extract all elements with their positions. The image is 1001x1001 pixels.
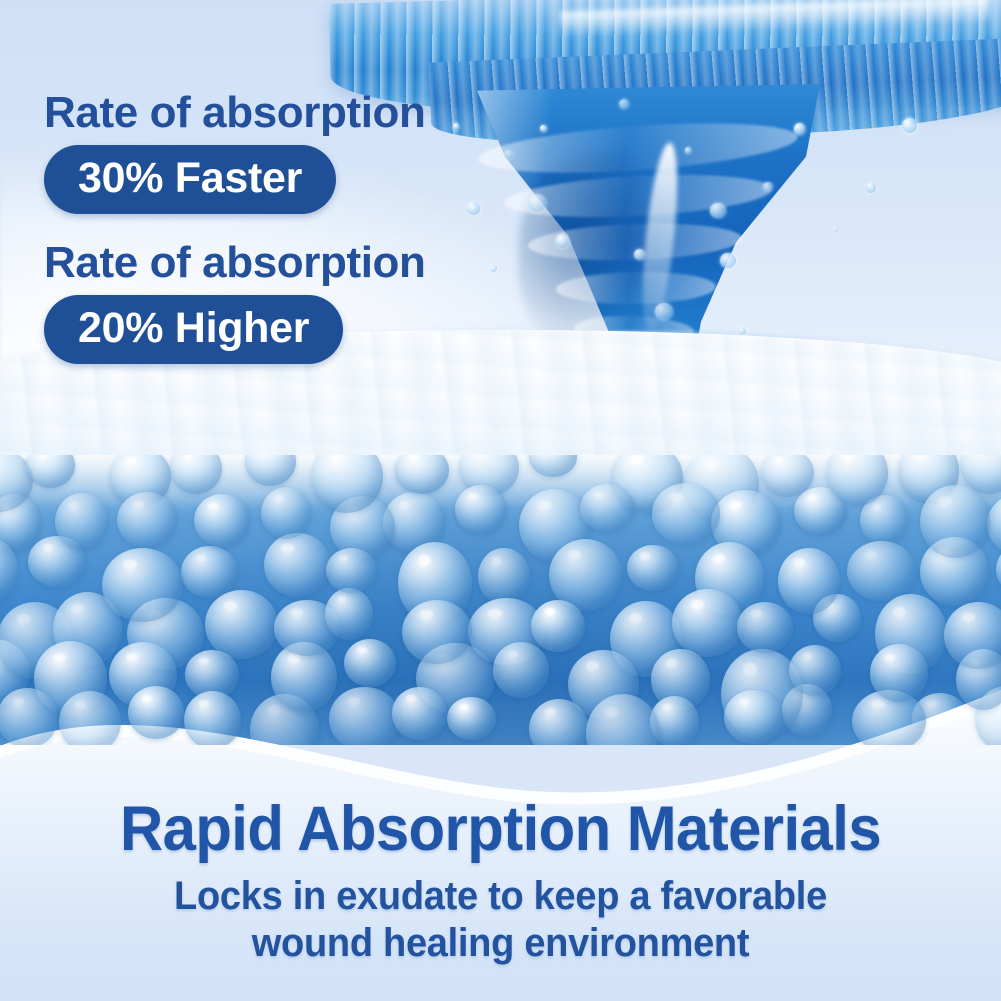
gel-bead: [478, 548, 529, 605]
callout-badge-20-higher: 20% Higher: [44, 295, 343, 364]
water-droplet: [540, 125, 547, 132]
product-feature-banner: Rate of absorption 30% Faster Rate of ab…: [0, 0, 1001, 1001]
gel-bead: [329, 687, 399, 745]
callout-absorption-speed: Rate of absorption 30% Faster: [44, 88, 425, 214]
callout-label: Rate of absorption: [44, 238, 425, 288]
gel-bead: [493, 642, 549, 697]
subtitle-line-2: wound healing environment: [25, 920, 976, 967]
gel-bead: [325, 588, 372, 640]
gel-bead: [847, 541, 916, 601]
subtitle-line-1: Locks in exudate to keep a favorable: [25, 873, 976, 920]
water-droplet: [720, 253, 736, 269]
gel-bead: [205, 590, 278, 658]
gel-bead: [870, 644, 928, 702]
water-droplet: [655, 303, 673, 321]
page-subtitle: Locks in exudate to keep a favorable wou…: [25, 873, 976, 967]
gel-bead: [344, 639, 396, 687]
gel-bead: [778, 548, 840, 615]
gel-bead: [724, 690, 784, 744]
gel-bead: [59, 691, 121, 745]
gel-bead-layer: [0, 455, 1001, 745]
water-droplet: [453, 123, 459, 129]
gel-bead: [737, 602, 793, 653]
page-title: Rapid Absorption Materials: [25, 793, 976, 865]
water-droplet: [763, 182, 772, 191]
gel-bead: [102, 548, 184, 622]
gel-bead: [261, 487, 311, 539]
gel-bead: [326, 548, 377, 593]
gel-bead: [531, 600, 585, 652]
gel-bead: [55, 493, 109, 550]
gel-bead: [627, 545, 679, 591]
callout-absorption-capacity: Rate of absorption 20% Higher: [44, 238, 425, 364]
gel-bead: [652, 483, 721, 544]
water-droplet: [528, 194, 546, 212]
gel-bead: [0, 688, 58, 745]
gel-bead: [672, 589, 743, 657]
water-droplet: [710, 203, 726, 219]
callout-badge-30-faster: 30% Faster: [44, 145, 336, 214]
gel-bead: [392, 687, 447, 740]
gel-bead: [264, 533, 331, 597]
gel-bead: [944, 602, 1001, 669]
callout-label: Rate of absorption: [44, 88, 425, 138]
water-droplet: [467, 202, 480, 215]
gel-bead: [920, 485, 990, 558]
water-droplet: [902, 118, 917, 133]
gel-bead: [447, 697, 496, 740]
gel-bead: [117, 492, 177, 548]
gel-bead: [580, 484, 635, 532]
gel-bead: [194, 494, 250, 547]
gel-bead: [184, 691, 241, 745]
water-droplet: [866, 182, 877, 193]
water-droplet: [556, 234, 569, 247]
water-droplet: [490, 265, 497, 272]
gel-bead: [128, 686, 185, 739]
